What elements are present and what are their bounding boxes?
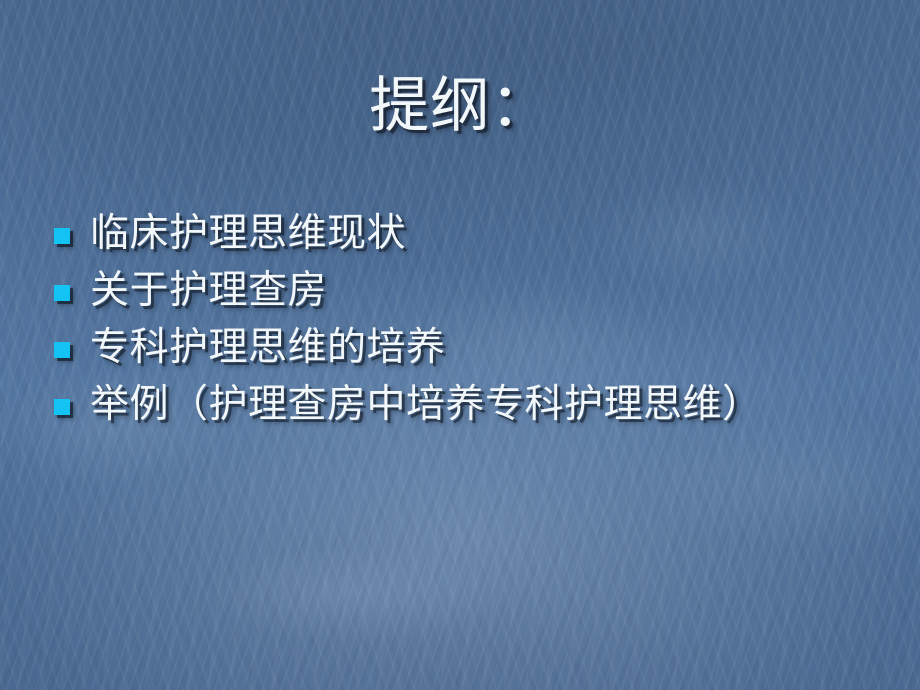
list-item[interactable]: 关于护理查房: [54, 263, 894, 320]
slide-content: 提纲： 临床护理思维现状 关于护理查房 专科护理思维的培养 举例（护理查房中培养…: [0, 0, 920, 690]
list-item[interactable]: 专科护理思维的培养: [54, 320, 894, 377]
presentation-slide: 提纲： 临床护理思维现状 关于护理查房 专科护理思维的培养 举例（护理查房中培养…: [0, 0, 920, 690]
square-bullet-icon: [54, 285, 70, 301]
list-item-label: 举例（护理查房中培养专科护理思维）: [90, 384, 762, 426]
square-bullet-icon: [54, 342, 70, 358]
list-item[interactable]: 临床护理思维现状: [54, 206, 894, 263]
square-bullet-icon: [54, 228, 70, 244]
list-item[interactable]: 举例（护理查房中培养专科护理思维）: [54, 377, 894, 434]
square-bullet-icon: [54, 399, 70, 415]
list-item-label: 临床护理思维现状: [90, 213, 406, 255]
list-item-label: 关于护理查房: [90, 270, 327, 312]
list-item-label: 专科护理思维的培养: [90, 327, 446, 369]
slide-title: 提纲：: [0, 74, 920, 137]
outline-bullet-list: 临床护理思维现状 关于护理查房 专科护理思维的培养 举例（护理查房中培养专科护理…: [54, 206, 894, 434]
